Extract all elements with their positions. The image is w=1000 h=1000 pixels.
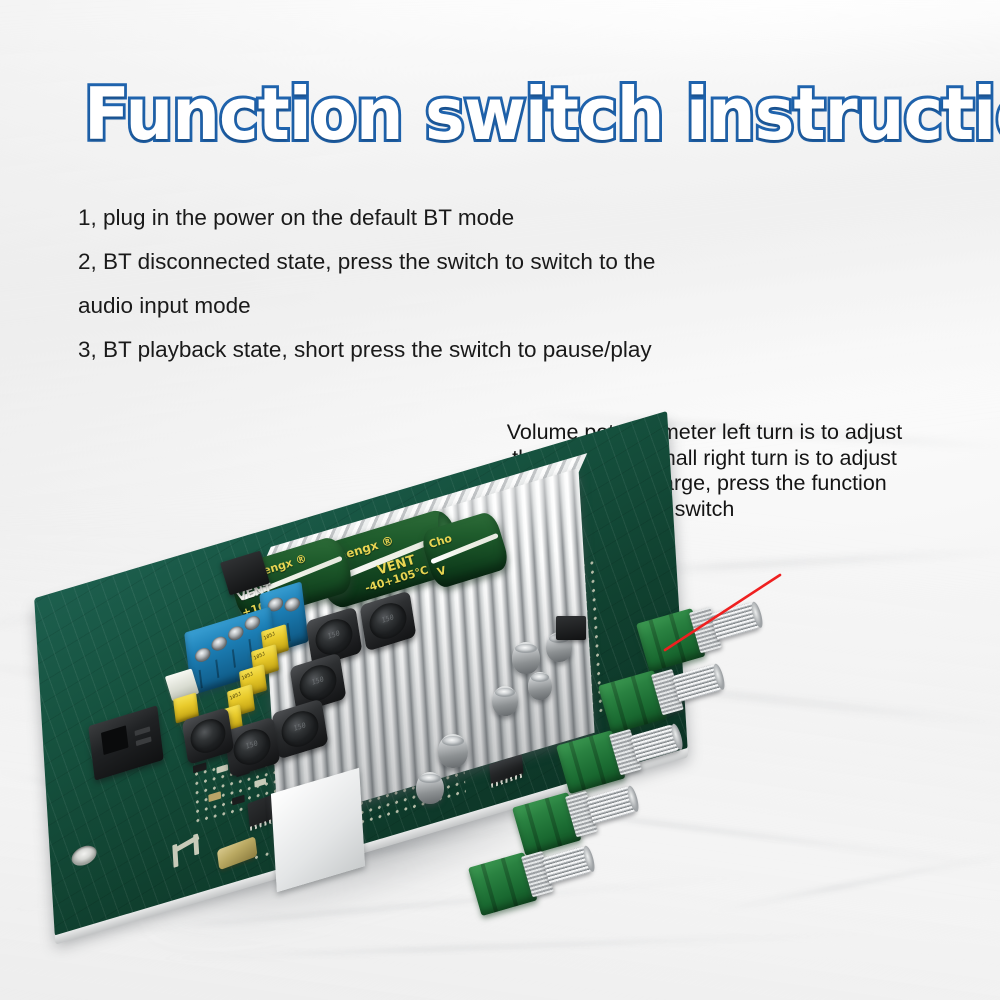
instruction-line-2: 2, BT disconnected state, press the swit…: [78, 240, 918, 284]
terminal-screw: [244, 614, 261, 632]
capacitor-vent-label: V: [436, 564, 448, 579]
terminal-screw: [284, 596, 301, 614]
terminal-screw: [227, 624, 244, 642]
electrolytic-capacitor: [438, 734, 468, 768]
electrolytic-capacitor: [528, 672, 552, 700]
electrolytic-capacitor: [512, 642, 540, 674]
jack-rib: [134, 726, 150, 736]
capacitor-brand-label: Cho: [427, 532, 453, 551]
terminal-slot: [232, 649, 236, 668]
callout-line-1: Volume potentiometer left turn is to adj…: [432, 420, 977, 446]
instruction-line-3: audio input mode: [78, 284, 918, 328]
page-title: Function switch instruction: [84, 78, 1000, 150]
terminal-screw: [194, 646, 211, 664]
terminal-slot: [215, 659, 219, 678]
smd-inductor: [556, 616, 586, 640]
capacitor-marking: 105J: [253, 651, 266, 662]
jack-rib: [136, 736, 152, 746]
electrolytic-capacitor: [416, 772, 444, 804]
instruction-line-4: 3, BT playback state, short press the sw…: [78, 328, 918, 372]
instruction-line-1: 1, plug in the power on the default BT m…: [78, 196, 918, 240]
capacitor-marking: 105J: [241, 671, 254, 682]
terminal-slot: [199, 670, 203, 689]
capacitor-marking: 105J: [263, 631, 276, 642]
instruction-list: 1, plug in the power on the default BT m…: [78, 196, 918, 372]
product-photo-scene: Function switch instruction 1, plug in t…: [0, 0, 1000, 1000]
jack-opening: [101, 725, 129, 755]
capacitor-marking: 105J: [229, 691, 242, 702]
electrolytic-capacitor: [492, 686, 518, 716]
inductor-core: [188, 715, 227, 758]
terminal-screw: [211, 635, 228, 653]
callout-pointer-line: [655, 565, 790, 660]
